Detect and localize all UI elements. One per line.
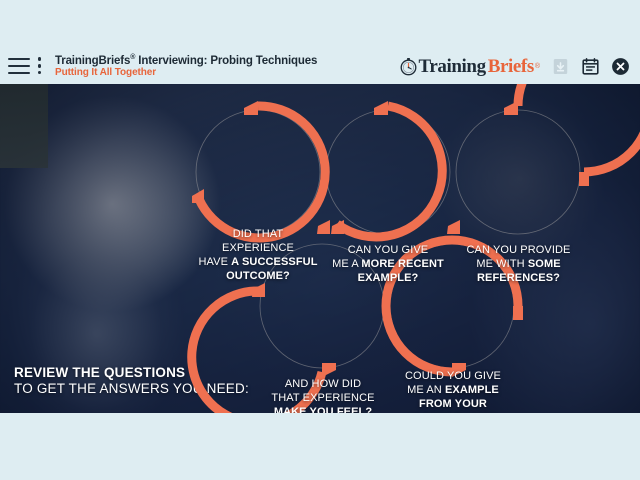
notes-icon[interactable]	[581, 57, 600, 76]
trainingbriefs-logo: TrainingBriefs®	[399, 57, 541, 76]
video-stage[interactable]: REVIEW THE QUESTIONS TO GET THE ANSWERS …	[0, 84, 640, 413]
connector-notch-1	[317, 220, 330, 234]
app-window: TrainingBriefs® Interviewing: Probing Te…	[0, 0, 640, 480]
page-title-rest: Interviewing: Probing Techniques	[135, 54, 317, 66]
header-right-controls: TrainingBriefs®	[399, 57, 631, 76]
header-left-controls: TrainingBriefs® Interviewing: Probing Te…	[8, 54, 317, 79]
app-header: TrainingBriefs® Interviewing: Probing Te…	[0, 48, 640, 84]
page-title-brand: TrainingBriefs	[55, 54, 130, 66]
header-titles: TrainingBriefs® Interviewing: Probing Te…	[55, 54, 317, 79]
ring-4-hairline	[260, 244, 384, 368]
question-rings-graphic	[0, 84, 640, 413]
ring-5	[386, 240, 523, 377]
ring-2	[331, 101, 442, 237]
ring-3	[504, 84, 640, 186]
connector-notch-2	[447, 220, 460, 234]
logo-word-briefs: Briefs	[488, 57, 534, 76]
close-icon[interactable]	[611, 57, 630, 76]
more-vertical-icon[interactable]	[37, 57, 42, 74]
hamburger-icon[interactable]	[8, 58, 30, 74]
ring-3-hairline	[456, 110, 580, 234]
page-title: TrainingBriefs® Interviewing: Probing Te…	[55, 54, 317, 68]
ring-4	[192, 283, 336, 413]
page-subtitle: Putting It All Together	[55, 67, 317, 78]
ring-5-hairline	[390, 244, 514, 368]
logo-word-training: Training	[419, 57, 486, 76]
stopwatch-icon	[399, 57, 418, 76]
ring-1	[192, 101, 325, 238]
logo-registered-mark: ®	[535, 63, 540, 70]
download-icon[interactable]	[551, 57, 570, 76]
